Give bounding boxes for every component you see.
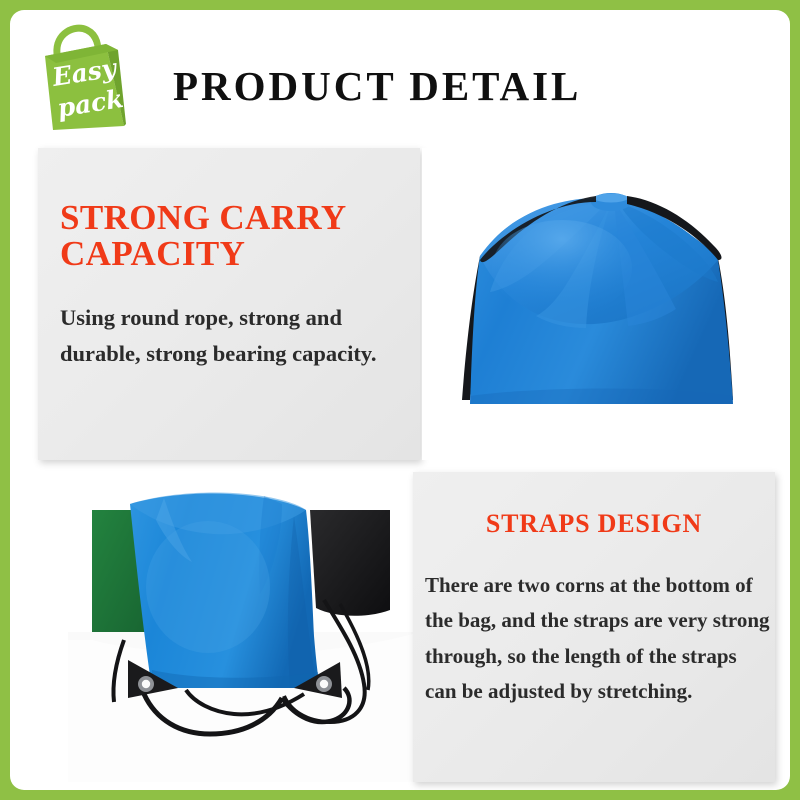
content-canvas: Easy pack PRODUCT DETAIL STRONG CARRY CA…: [10, 10, 790, 790]
product-photo-bag-corners: [68, 482, 413, 782]
panel-heading-straps: STRAPS DESIGN: [413, 510, 775, 537]
panel-body-straps: There are two corns at the bottom of the…: [425, 568, 773, 709]
shopping-bag-logo-icon: Easy pack: [23, 18, 141, 136]
panel-body-capacity: Using round rope, strong and durable, st…: [60, 300, 402, 373]
panel-heading-capacity: STRONG CARRY CAPACITY: [60, 200, 410, 273]
page-frame: Easy pack PRODUCT DETAIL STRONG CARRY CA…: [0, 0, 800, 800]
header: Easy pack PRODUCT DETAIL: [10, 10, 790, 138]
feature-panel-capacity: STRONG CARRY CAPACITY Using round rope, …: [38, 148, 420, 460]
feature-panel-straps: STRAPS DESIGN There are two corns at the…: [413, 472, 775, 782]
page-title: PRODUCT DETAIL: [173, 62, 581, 110]
product-photo-bag-closed: [422, 148, 784, 460]
